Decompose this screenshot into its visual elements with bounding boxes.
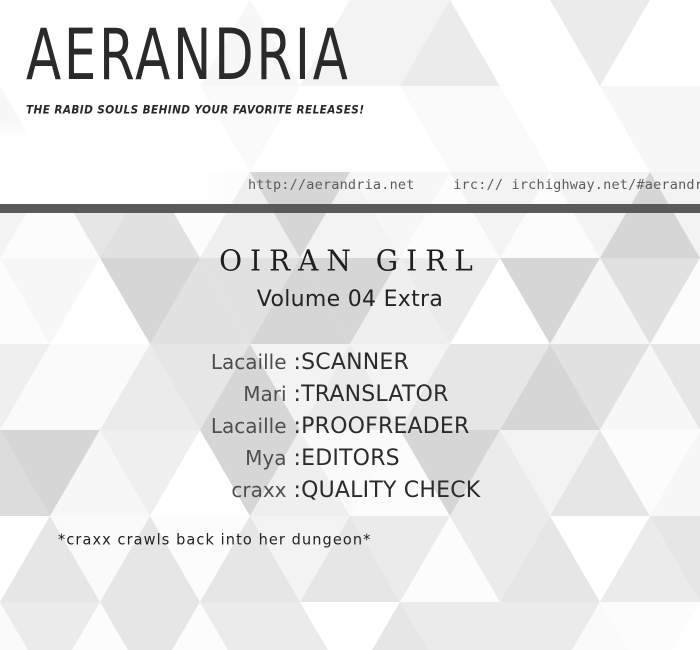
credits-list: Lacaille:SCANNERMari:TRANSLATORLacaille:… <box>0 350 700 510</box>
credit-role: :QUALITY CHECK <box>294 478 594 503</box>
credit-row: Mari:TRANSLATOR <box>0 382 700 414</box>
divider-bar <box>0 204 700 213</box>
credit-name: Lacaille <box>107 414 294 438</box>
website-link[interactable]: http://aerandria.net <box>248 177 415 193</box>
credit-name: craxx <box>107 478 294 502</box>
credit-name: Mya <box>107 446 294 470</box>
links-row: http://aerandria.net irc:// irchighway.n… <box>248 177 700 193</box>
logo-tagline: THE RABID SOULS BEHIND YOUR FAVORITE REL… <box>26 104 326 117</box>
credit-role: :EDITORS <box>294 446 594 471</box>
logo-wordmark: AERANDRIA <box>26 14 302 96</box>
credit-row: Lacaille:PROOFREADER <box>0 414 700 446</box>
series-title: OIRAN GIRL <box>0 243 700 278</box>
credit-role: :PROOFREADER <box>294 414 594 439</box>
site-header: AERANDRIA THE RABID SOULS BEHIND YOUR FA… <box>26 14 326 116</box>
irc-link[interactable]: irc:// irchighway.net/#aerandria <box>453 177 700 193</box>
credit-role: :TRANSLATOR <box>294 382 594 407</box>
credit-row: Mya:EDITORS <box>0 446 700 478</box>
credit-row: craxx:QUALITY CHECK <box>0 478 700 510</box>
title-block: OIRAN GIRL Volume 04 Extra <box>0 244 700 312</box>
volume-label: Volume 04 Extra <box>0 287 700 312</box>
credit-role: :SCANNER <box>294 350 594 375</box>
credits-page: AERANDRIA THE RABID SOULS BEHIND YOUR FA… <box>0 0 700 650</box>
credit-name: Lacaille <box>107 350 294 374</box>
credit-row: Lacaille:SCANNER <box>0 350 700 382</box>
footer-note: *craxx crawls back into her dungeon* <box>58 532 371 549</box>
credit-name: Mari <box>107 382 294 406</box>
